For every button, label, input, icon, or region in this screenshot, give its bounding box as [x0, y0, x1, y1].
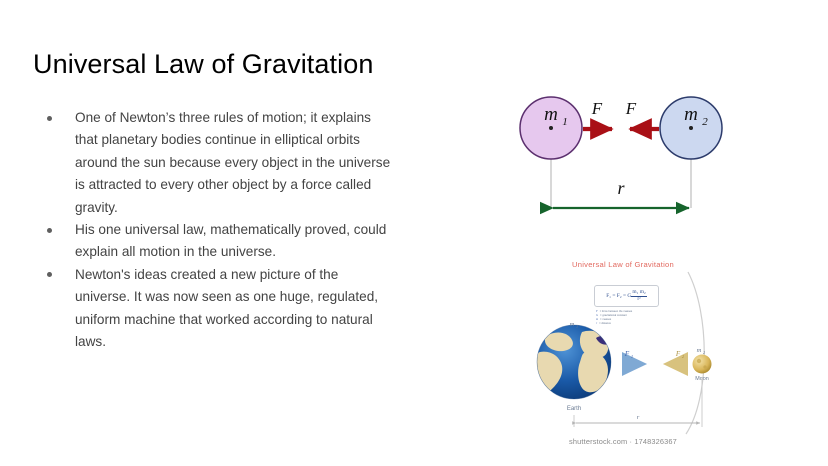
- earth-label: Earth: [567, 406, 581, 412]
- stock-credit-watermark: shutterstock.com · 1748326367: [528, 437, 718, 446]
- moon-mass-subscript: 2: [703, 350, 705, 355]
- force-moon-subscript: 2: [682, 354, 685, 359]
- distance-label: r: [617, 178, 625, 198]
- force-label-right: F: [625, 99, 637, 118]
- bullet-dot-icon: [47, 272, 52, 277]
- mass-1-center-dot: [549, 126, 553, 130]
- page-title: Universal Law of Gravitation: [33, 48, 373, 80]
- force-earth-subscript: 1: [631, 354, 633, 359]
- orbit-arc: [686, 272, 704, 434]
- mass-2-label: m: [684, 104, 698, 125]
- bullet-dot-icon: [47, 116, 52, 121]
- bullet-dot-icon: [47, 228, 52, 233]
- gravitational-force-diagram: m 1 m 2 F F r: [505, 82, 740, 217]
- list-item: Newton's ideas created a new picture of …: [38, 264, 393, 354]
- moon-sphere: [693, 355, 712, 374]
- distance-label: r: [637, 414, 640, 421]
- list-item: One of Newton’s three rules of motion; i…: [38, 107, 393, 219]
- mass-2-subscript: 2: [702, 116, 708, 128]
- force-label-left: F: [591, 99, 603, 118]
- earth-mass-subscript: 1: [576, 324, 578, 329]
- mass-1-label: m: [544, 104, 558, 125]
- slide-canvas: Universal Law of Gravitation One of Newt…: [0, 0, 828, 466]
- list-item-text: Newton's ideas created a new picture of …: [75, 267, 378, 349]
- force-earth-label: F: [624, 350, 630, 358]
- list-item-text: His one universal law, mathematically pr…: [75, 222, 386, 259]
- list-item-text: One of Newton’s three rules of motion; i…: [75, 110, 390, 215]
- bullet-list: One of Newton’s three rules of motion; i…: [38, 107, 393, 353]
- earth-moon-artwork: F 1 F 2 m 1 m 2 Earth Moon r: [528, 252, 718, 437]
- moon-mass-label: m: [697, 347, 702, 354]
- force-moon-label: F: [675, 350, 681, 358]
- stock-illustration: Universal Law of Gravitation F₁ = F₂ = G…: [528, 252, 718, 457]
- list-item: His one universal law, mathematically pr…: [38, 219, 393, 264]
- mass-2-center-dot: [689, 126, 693, 130]
- mass-1-subscript: 1: [562, 116, 568, 128]
- earth-mass-label: m: [570, 321, 575, 328]
